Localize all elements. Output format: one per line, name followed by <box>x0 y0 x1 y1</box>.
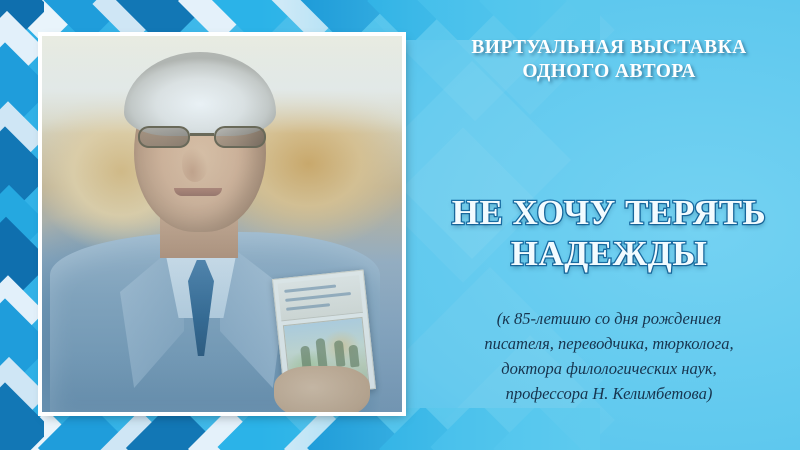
band-diamond <box>126 408 222 450</box>
band-diamond <box>4 0 89 40</box>
book-figure <box>334 340 346 367</box>
band-diamond <box>178 0 260 40</box>
band-diamond <box>284 408 366 450</box>
eyeglass-lens-right <box>214 126 266 148</box>
decorative-band-left <box>0 0 44 450</box>
exhibition-header-line-2: ОДНОГО АВТОРА <box>418 60 800 84</box>
page-title: НЕ ХОЧУ ТЕРЯТЬ НАДЕЖДЫ <box>418 192 800 275</box>
exhibition-header: ВИРТУАЛЬНАЯ ВЫСТАВКА ОДНОГО АВТОРА <box>418 36 800 84</box>
book-title-line <box>284 284 336 292</box>
mouth <box>174 188 222 196</box>
book-figure <box>348 345 359 368</box>
book-title-line <box>285 292 351 302</box>
eyeglasses <box>138 124 266 150</box>
band-diamond <box>0 217 44 308</box>
band-diamond <box>0 298 44 391</box>
band-diamond <box>40 0 133 40</box>
band-diamond <box>0 0 43 40</box>
band-diamond <box>0 408 47 450</box>
band-diamond <box>6 410 88 450</box>
author-photo <box>42 36 402 412</box>
band-diamond <box>0 382 44 450</box>
subtitle-line-4: профессора Н. Келимбетова) <box>424 381 794 406</box>
hand <box>274 366 370 412</box>
nose <box>182 148 208 182</box>
band-diamond <box>188 408 270 450</box>
book-title-area <box>277 275 363 321</box>
band-diamond <box>0 275 44 349</box>
band-diamond <box>0 11 44 87</box>
band-diamond <box>0 101 44 175</box>
band-diamond <box>210 0 306 40</box>
book-title-line <box>286 303 330 311</box>
band-diamond <box>307 408 409 450</box>
virtual-exhibition-poster: ВИРТУАЛЬНАЯ ВЫСТАВКА ОДНОГО АВТОРА НЕ ХО… <box>0 0 800 450</box>
band-diamond <box>38 408 134 450</box>
band-diamond <box>272 0 357 40</box>
band-diamond <box>218 408 317 450</box>
subtitle-line-2: писателя, переводчика, тюрколога, <box>424 331 794 356</box>
band-diamond <box>0 357 44 433</box>
exhibition-header-line-1: ВИРТУАЛЬНАЯ ВЫСТАВКА <box>418 36 800 60</box>
eyeglass-lens-left <box>138 126 190 148</box>
band-diamond <box>0 42 44 135</box>
band-diamond <box>0 0 44 51</box>
page-title-line-1: НЕ ХОЧУ ТЕРЯТЬ <box>418 192 800 233</box>
subtitle-line-3: доктора филологических наук, <box>424 356 794 381</box>
page-title-line-2: НАДЕЖДЫ <box>418 233 800 274</box>
author-photo-frame <box>42 36 402 412</box>
band-diamond <box>298 0 397 40</box>
band-diamond <box>92 0 171 40</box>
subtitle-line-1: (к 85-летиию со дня рождениея <box>424 306 794 331</box>
band-diamond <box>116 0 212 40</box>
poster-subtitle: (к 85-летиию со дня рождениея писателя, … <box>424 306 794 406</box>
band-diamond <box>100 410 179 450</box>
band-diamond <box>0 185 44 261</box>
eyeglass-bridge <box>190 133 214 136</box>
poster-text-column: ВИРТУАЛЬНАЯ ВЫСТАВКА ОДНОГО АВТОРА НЕ ХО… <box>418 0 800 450</box>
band-diamond <box>0 126 44 219</box>
